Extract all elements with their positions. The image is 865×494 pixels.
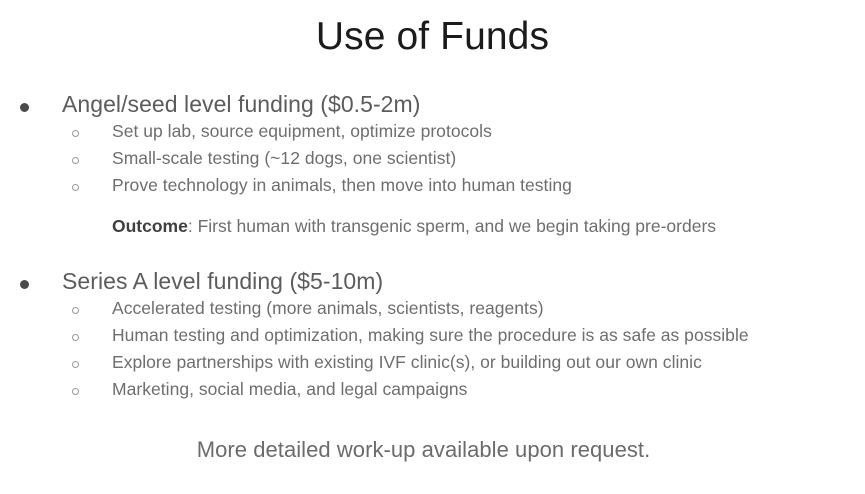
outcome-body: First human with transgenic sperm, and w…	[198, 216, 716, 236]
bullet-hollow-icon	[72, 183, 112, 191]
outcome-label: Outcome	[112, 216, 188, 236]
outcome-text: Outcome: First human with transgenic spe…	[112, 215, 716, 238]
list-item: Explore partnerships with existing IVF c…	[0, 351, 865, 378]
bullet-hollow-icon	[72, 129, 112, 137]
list-item-label: Prove technology in animals, then move i…	[112, 174, 572, 197]
bullet-hollow-icon	[72, 306, 112, 314]
list-item-label: Small-scale testing (~12 dogs, one scien…	[112, 147, 456, 170]
list-item-label: Accelerated testing (more animals, scien…	[112, 297, 544, 320]
section-heading-label: Series A level funding ($5-10m)	[62, 267, 383, 296]
section-heading-row: Angel/seed level funding ($0.5-2m)	[0, 90, 865, 120]
list-item-label: Human testing and optimization, making s…	[112, 324, 749, 347]
outcome-row: Outcome: First human with transgenic spe…	[0, 215, 865, 243]
bullet-filled-icon	[20, 278, 62, 289]
bullet-hollow-icon	[72, 333, 112, 341]
slide-body: Angel/seed level funding ($0.5-2m) Set u…	[0, 90, 865, 405]
list-item-label: Set up lab, source equipment, optimize p…	[112, 120, 492, 143]
bullet-hollow-icon	[72, 387, 112, 395]
list-item: Human testing and optimization, making s…	[0, 324, 865, 351]
funding-section-angel-seed: Angel/seed level funding ($0.5-2m) Set u…	[0, 90, 865, 243]
list-item-label: Marketing, social media, and legal campa…	[112, 378, 467, 401]
funding-section-series-a: Series A level funding ($5-10m) Accelera…	[0, 267, 865, 405]
page-title: Use of Funds	[0, 15, 865, 60]
outcome-separator: :	[188, 216, 198, 236]
bullet-hollow-icon	[72, 360, 112, 368]
list-item: Prove technology in animals, then move i…	[0, 174, 865, 201]
list-item: Marketing, social media, and legal campa…	[0, 378, 865, 405]
list-item: Small-scale testing (~12 dogs, one scien…	[0, 147, 865, 174]
bullet-hollow-icon	[72, 156, 112, 164]
footer-note: More detailed work-up available upon req…	[0, 437, 847, 463]
section-heading-label: Angel/seed level funding ($0.5-2m)	[62, 90, 420, 119]
slide-root: Use of Funds Angel/seed level funding ($…	[0, 0, 865, 494]
bullet-filled-icon	[20, 101, 62, 112]
section-heading-row: Series A level funding ($5-10m)	[0, 267, 865, 297]
list-item: Set up lab, source equipment, optimize p…	[0, 120, 865, 147]
list-item-label: Explore partnerships with existing IVF c…	[112, 351, 702, 374]
list-item: Accelerated testing (more animals, scien…	[0, 297, 865, 324]
